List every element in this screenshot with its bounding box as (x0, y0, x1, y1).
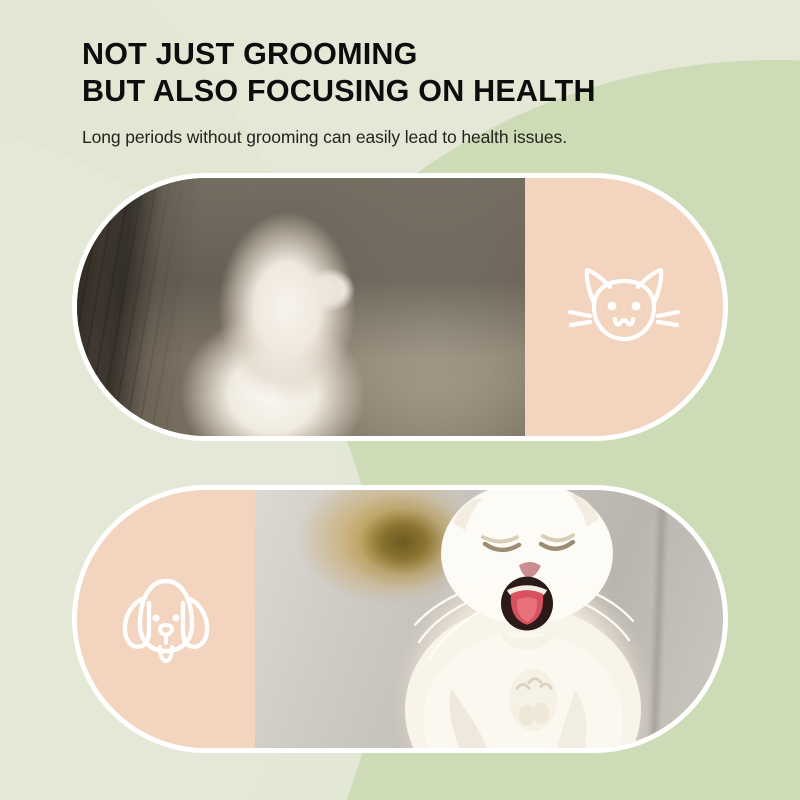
dog-face-icon (116, 567, 216, 671)
card-shedding[interactable] (72, 173, 728, 441)
card-sneezing[interactable] (72, 485, 728, 753)
headline-line-1: NOT JUST GROOMING (82, 36, 742, 73)
cat-face-icon (568, 259, 680, 355)
photo-shed-fur (77, 178, 525, 436)
photo-shed-fur-image (77, 178, 525, 436)
photo-sneezing-cat-image (255, 490, 723, 748)
header-block: NOT JUST GROOMING BUT ALSO FOCUSING ON H… (82, 36, 742, 148)
headline-line-2: BUT ALSO FOCUSING ON HEALTH (82, 73, 742, 110)
photo-sneezing-cat (255, 490, 723, 748)
poster-canvas: NOT JUST GROOMING BUT ALSO FOCUSING ON H… (0, 0, 800, 800)
photo-sneezing-cat-detail (255, 490, 723, 748)
subtitle-text: Long periods without grooming can easily… (82, 127, 742, 148)
